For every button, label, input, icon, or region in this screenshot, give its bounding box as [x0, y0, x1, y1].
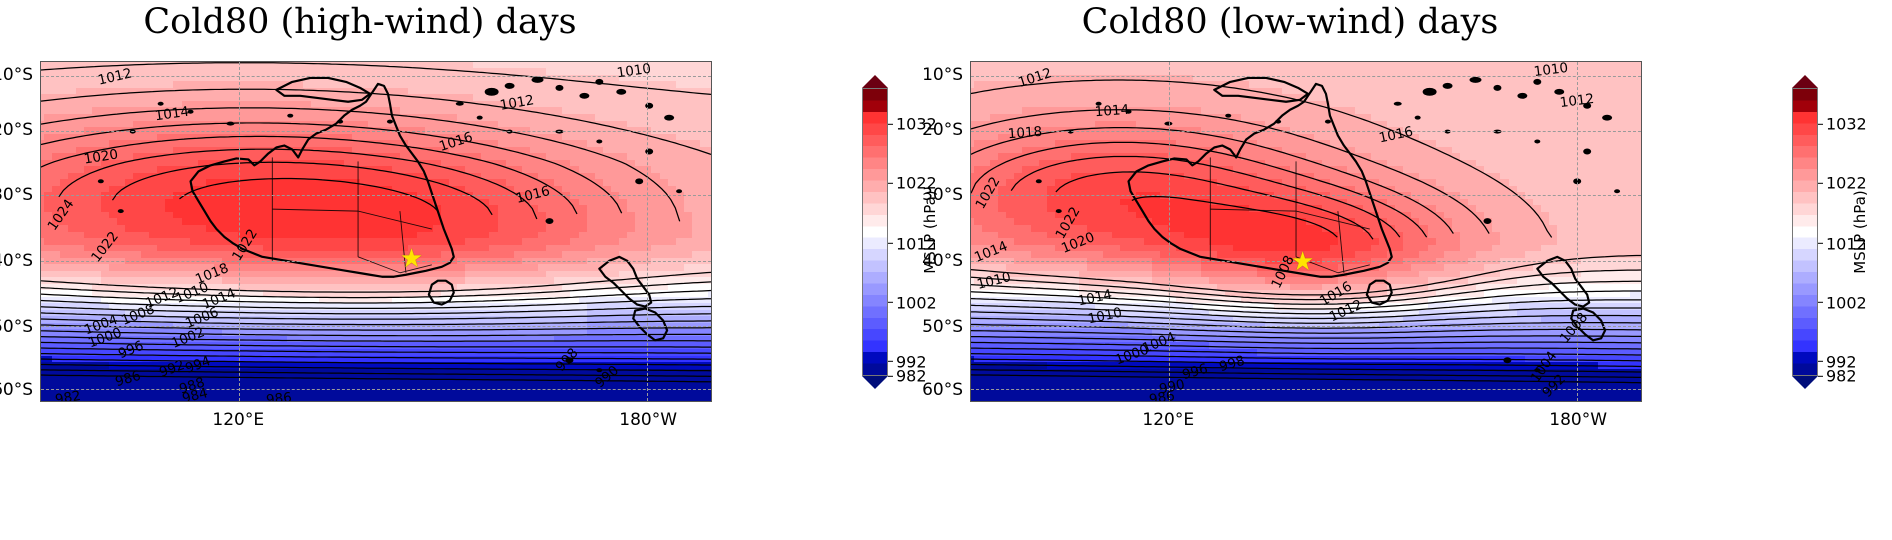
y-tick-label: 10°S — [922, 65, 970, 85]
colorbar-extend-bottom — [862, 376, 888, 389]
contour-label: 1018 — [1007, 124, 1042, 142]
colorbar-tick-label: 1002 — [1818, 293, 1867, 312]
figure-root: Cold80 (high-wind) days 1012101410101012… — [0, 0, 1892, 540]
star-icon: ★ — [400, 246, 423, 272]
map-high-wind[interactable]: 1012101410101012101610161020102410221022… — [40, 61, 712, 402]
y-tick-label: 60°S — [0, 380, 40, 400]
y-tick-label: 20°S — [922, 120, 970, 140]
panel-low-wind: Cold80 (low-wind) days 10121014101010121… — [930, 0, 1892, 540]
x-tick-label: 180°W — [619, 402, 677, 430]
y-tick-label: 60°S — [922, 380, 970, 400]
y-tick-label: 30°S — [0, 185, 40, 205]
y-tick-label: 40°S — [0, 251, 40, 271]
star-icon: ★ — [1291, 249, 1314, 275]
colorbar-extend-top — [862, 75, 888, 88]
colorbar-gradient — [862, 88, 888, 376]
panel-high-wind: Cold80 (high-wind) days 1012101410101012… — [0, 0, 930, 540]
y-tick-label: 30°S — [922, 185, 970, 205]
y-tick-label: 10°S — [0, 65, 40, 85]
colorbar-tick-label: 982 — [888, 367, 927, 386]
map-canvas: 1012101410101012101610161020102410221022… — [41, 62, 711, 401]
contour-label: 986 — [265, 390, 292, 401]
colorbar-tick-label: 982 — [1818, 367, 1857, 386]
y-tick-label: 40°S — [922, 251, 970, 271]
y-tick-label: 50°S — [922, 317, 970, 337]
map-axes: 1012101410101012101610181022102210201014… — [970, 61, 1642, 402]
colorbar-low-wind[interactable]: 1032102210121002992982 MSLP (hPa) — [1792, 88, 1818, 376]
panel-title: Cold80 (high-wind) days — [10, 2, 710, 42]
x-tick-label: 120°E — [1142, 402, 1194, 430]
map-low-wind[interactable]: 1012101410101012101610181022102210201014… — [970, 61, 1642, 402]
colorbar-high-wind[interactable]: 1032102210121002992982 MSLP (hPa) — [862, 88, 888, 376]
panel-title: Cold80 (low-wind) days — [940, 2, 1640, 42]
colorbar-gradient — [1792, 88, 1818, 376]
colorbar-tick-label: 1032 — [1818, 115, 1867, 134]
colorbar-extend-top — [1792, 75, 1818, 88]
x-tick-label: 180°W — [1549, 402, 1607, 430]
map-canvas: 1012101410101012101610181022102210201014… — [971, 62, 1641, 401]
colorbar-axis-label: MSLP (hPa) — [1851, 190, 1869, 273]
map-axes: 1012101410101012101610161020102410221022… — [40, 61, 712, 402]
x-tick-label: 120°E — [212, 402, 264, 430]
y-tick-label: 50°S — [0, 317, 40, 337]
contour-label: 1014 — [1094, 102, 1129, 120]
colorbar-extend-bottom — [1792, 376, 1818, 389]
y-tick-label: 20°S — [0, 120, 40, 140]
